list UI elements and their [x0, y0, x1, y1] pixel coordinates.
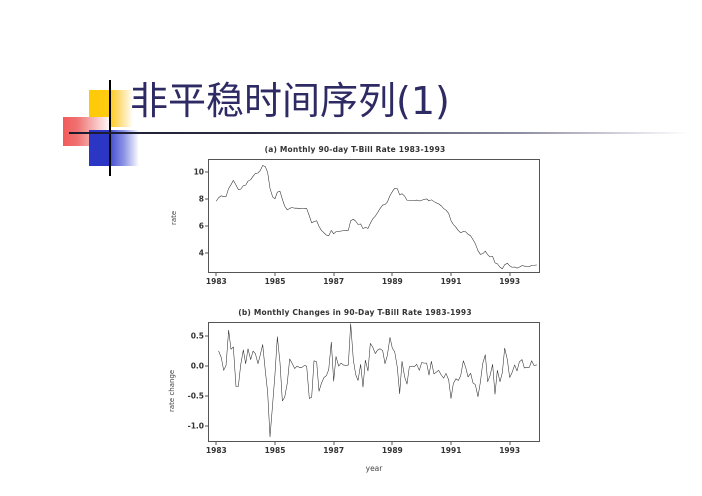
- chart-a-plot-area: 10864198319851987198919911993: [208, 159, 540, 273]
- chart-b-x-tick-label: 1983: [206, 446, 227, 455]
- chart-b-y-tick-label: 0.0: [191, 362, 204, 371]
- chart-b-plot-area: 0.50.0-0.5-1.0198319851987198919911993: [208, 322, 540, 442]
- chart-b-x-tick-mark: [216, 441, 217, 445]
- chart-b-x-tick-mark: [451, 441, 452, 445]
- chart-b-title: (b) Monthly Changes in 90-Day T-Bill Rat…: [160, 308, 550, 317]
- logo-blue-square-solid: [89, 130, 111, 166]
- chart-a-x-tick-label: 1991: [441, 277, 462, 286]
- chart-a-y-axis-label: rate: [170, 211, 178, 225]
- chart-b-x-tick-mark: [333, 441, 334, 445]
- chart-b-x-tick-label: 1991: [441, 446, 462, 455]
- chart-a-x-tick-mark: [216, 272, 217, 276]
- chart-a-x-tick-label: 1987: [323, 277, 344, 286]
- chart-a-y-tick-label: 4: [199, 249, 204, 258]
- chart-b-x-tick-mark: [509, 441, 510, 445]
- chart-panel-b: (b) Monthly Changes in 90-Day T-Bill Rat…: [160, 308, 550, 480]
- chart-b-y-tick-mark: [205, 336, 209, 337]
- chart-b-y-axis-label: rate change: [168, 370, 176, 412]
- chart-b-x-tick-mark: [392, 441, 393, 445]
- chart-a-y-tick-mark: [205, 226, 209, 227]
- chart-b-y-tick-label: -1.0: [188, 422, 204, 431]
- chart-b-x-tick-label: 1987: [323, 446, 344, 455]
- title-block: Time series 非平稳时间序列(1): [55, 62, 675, 157]
- chart-b-x-tick-label: 1993: [499, 446, 520, 455]
- chart-a-x-tick-mark: [275, 272, 276, 276]
- timeseries-figure: (a) Monthly 90-day T-Bill Rate 1983-1993…: [160, 145, 550, 480]
- chart-panel-a: (a) Monthly 90-day T-Bill Rate 1983-1993…: [160, 145, 550, 308]
- chart-a-y-tick-label: 6: [199, 222, 204, 231]
- chart-a-x-tick-mark: [451, 272, 452, 276]
- chart-a-y-tick-label: 8: [199, 195, 204, 204]
- chart-b-x-axis-label: year: [208, 464, 540, 473]
- chart-b-x-tick-label: 1985: [265, 446, 286, 455]
- chart-b-series-line: [219, 324, 537, 437]
- chart-a-x-tick-label: 1985: [265, 277, 286, 286]
- chart-a-series-line: [216, 166, 536, 269]
- chart-a-title: (a) Monthly 90-day T-Bill Rate 1983-1993: [160, 145, 550, 154]
- chart-b-y-tick-mark: [205, 426, 209, 427]
- chart-b-y-tick-label: -0.5: [188, 392, 204, 401]
- chart-a-x-tick-mark: [509, 272, 510, 276]
- chart-a-y-tick-mark: [205, 253, 209, 254]
- chart-b-y-tick-label: 0.5: [191, 332, 204, 341]
- chart-a-y-tick-label: 10: [194, 168, 204, 177]
- chart-a-x-tick-mark: [392, 272, 393, 276]
- chart-a-y-tick-mark: [205, 172, 209, 173]
- chart-a-x-tick-mark: [333, 272, 334, 276]
- chart-b-y-tick-mark: [205, 396, 209, 397]
- chart-a-x-tick-label: 1989: [382, 277, 403, 286]
- title-divider-line: [69, 132, 689, 134]
- slide: Time series 非平稳时间序列(1) (a) Monthly 90-da…: [0, 0, 702, 496]
- chart-a-y-tick-mark: [205, 199, 209, 200]
- logo-arched-text-label: Time series: [61, 62, 151, 66]
- chart-a-x-tick-label: 1983: [206, 277, 227, 286]
- chart-b-x-tick-label: 1989: [382, 446, 403, 455]
- page-title: 非平稳时间序列(1): [130, 82, 450, 120]
- chart-a-x-tick-label: 1993: [499, 277, 520, 286]
- chart-b-y-tick-mark: [205, 366, 209, 367]
- chart-b-x-tick-mark: [275, 441, 276, 445]
